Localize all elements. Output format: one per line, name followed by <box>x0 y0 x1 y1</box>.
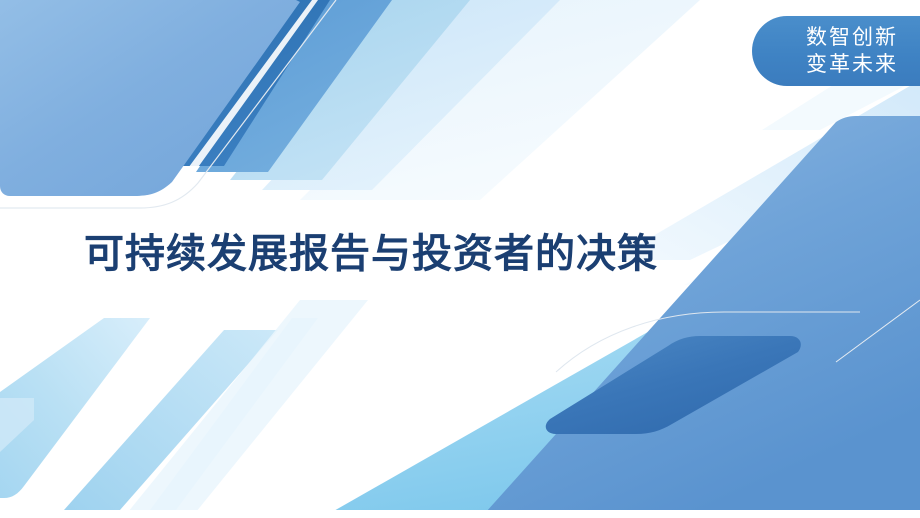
footer-strip <box>0 510 920 518</box>
corner-badge-line-1: 数智创新 <box>806 24 898 51</box>
page-title: 可持续发展报告与投资者的决策 <box>84 228 658 280</box>
corner-badge-line-2: 变革未来 <box>806 51 898 78</box>
title-block: 可持续发展报告与投资者的决策 <box>84 228 658 280</box>
corner-badge: 数智创新 变革未来 <box>752 16 920 86</box>
title-slide: 数智创新 变革未来 可持续发展报告与投资者的决策 <box>0 0 920 518</box>
